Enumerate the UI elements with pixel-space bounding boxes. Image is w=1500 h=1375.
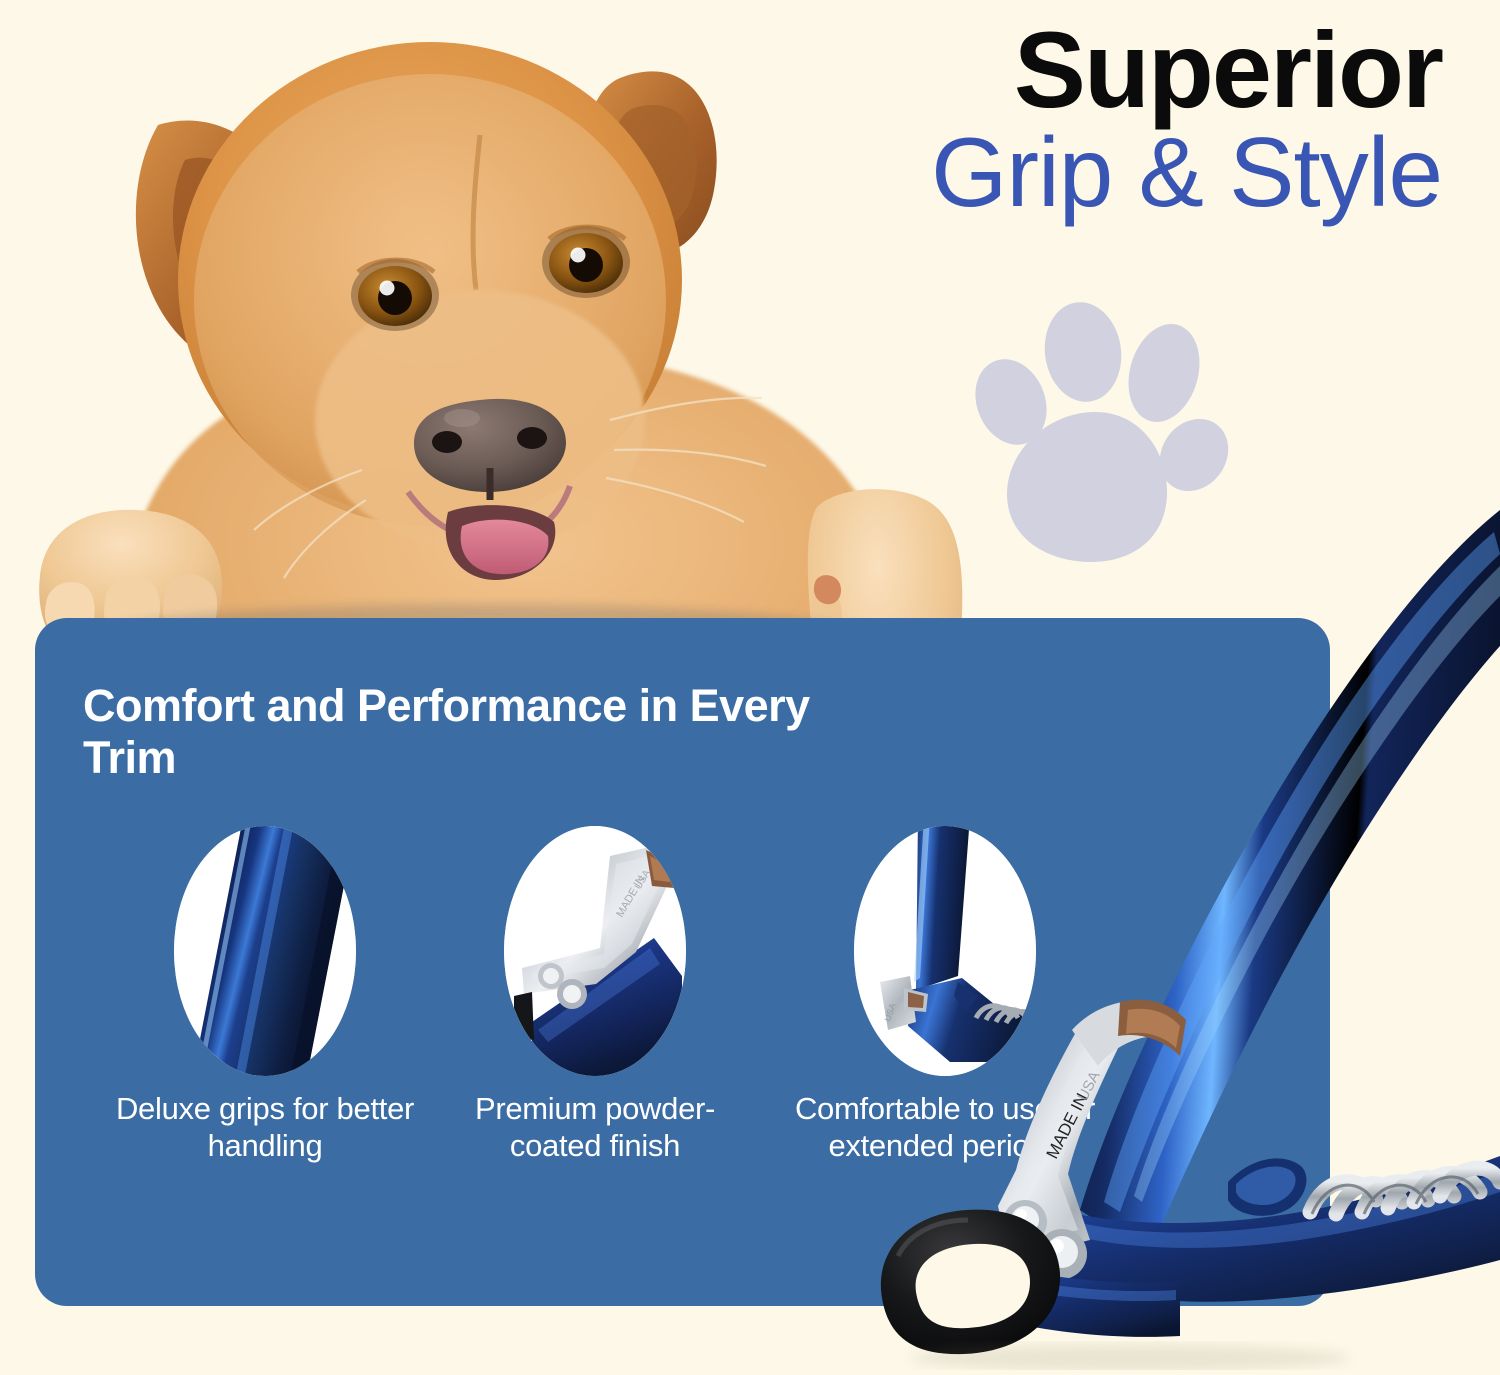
headline-secondary: Grip & Style [742, 121, 1442, 224]
card-title: Comfort and Performance in Every Trim [83, 680, 843, 784]
clipper-blade-head-closeup-image: MADE IN USA [504, 826, 686, 1076]
headline-block: Superior Grip & Style [742, 14, 1442, 224]
poster-canvas: Superior Grip & Style Comfort and Perfor… [0, 0, 1500, 1370]
feature-item-finish: MADE IN USA Premium powder-coated finish [430, 826, 760, 1164]
headline-primary: Superior [742, 14, 1442, 125]
dog-nail-clipper-product-photo: MADE IN USA [880, 470, 1500, 1370]
feature-caption-grips: Deluxe grips for better handling [100, 1090, 430, 1164]
feature-caption-finish: Premium powder-coated finish [430, 1090, 760, 1164]
feature-item-grips: Deluxe grips for better handling [100, 826, 430, 1164]
clipper-handle-closeup-image [174, 826, 356, 1076]
